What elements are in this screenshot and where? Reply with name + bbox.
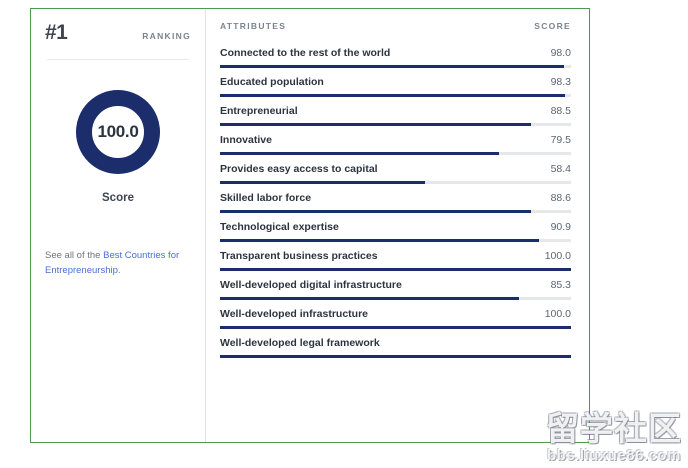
attribute-row-header: Connected to the rest of the world98.0 — [220, 47, 571, 59]
attribute-row-header: Innovative79.5 — [220, 134, 571, 146]
attribute-bar-track — [220, 355, 571, 358]
attribute-bar-fill — [220, 181, 425, 184]
attributes-panel: ATTRIBUTES SCORE Connected to the rest o… — [206, 9, 589, 442]
attribute-score: 98.3 — [551, 76, 571, 88]
attribute-bar-track — [220, 65, 571, 68]
score-caption: Score — [45, 192, 191, 204]
attribute-bar-track — [220, 94, 571, 97]
attribute-score: 100.0 — [545, 250, 571, 262]
attribute-row: Well-developed infrastructure100.0 — [220, 308, 571, 337]
attribute-name: Transparent business practices — [220, 250, 378, 262]
ranking-header: #1 RANKING — [45, 21, 191, 59]
attributes-list: Connected to the rest of the world98.0Ed… — [220, 47, 571, 366]
attribute-bar-track — [220, 268, 571, 271]
attribute-name: Technological expertise — [220, 221, 339, 233]
score-donut-wrapper: 100.0 — [45, 86, 191, 178]
attributes-header: ATTRIBUTES SCORE — [220, 21, 571, 47]
attribute-row: Technological expertise90.9 — [220, 221, 571, 250]
attribute-score: 88.6 — [551, 192, 571, 204]
attribute-name: Well-developed legal framework — [220, 337, 380, 349]
attribute-bar-track — [220, 326, 571, 329]
attribute-bar-track — [220, 181, 571, 184]
score-donut-value: 100.0 — [72, 86, 164, 178]
attribute-score: 98.0 — [551, 47, 571, 59]
attribute-bar-fill — [220, 355, 571, 358]
attribute-bar-fill — [220, 268, 571, 271]
attribute-bar-track — [220, 152, 571, 155]
attribute-bar-track — [220, 239, 571, 242]
attribute-score: 79.5 — [551, 134, 571, 146]
score-column-label: SCORE — [534, 21, 571, 31]
attribute-row: Well-developed digital infrastructure85.… — [220, 279, 571, 308]
attribute-bar-track — [220, 123, 571, 126]
attribute-bar-fill — [220, 123, 531, 126]
attribute-name: Innovative — [220, 134, 272, 146]
attribute-score: 100.0 — [545, 308, 571, 320]
attribute-bar-fill — [220, 297, 519, 300]
attribute-row-header: Entrepreneurial88.5 — [220, 105, 571, 117]
attribute-row: Entrepreneurial88.5 — [220, 105, 571, 134]
attribute-bar-fill — [220, 152, 499, 155]
attribute-name: Skilled labor force — [220, 192, 311, 204]
attribute-row-header: Technological expertise90.9 — [220, 221, 571, 233]
attribute-row: Provides easy access to capital58.4 — [220, 163, 571, 192]
attribute-name: Entrepreneurial — [220, 105, 298, 117]
attribute-bar-fill — [220, 326, 571, 329]
attribute-name: Connected to the rest of the world — [220, 47, 390, 59]
ranking-label: RANKING — [142, 31, 191, 41]
rank-number: #1 — [45, 21, 67, 45]
attribute-row: Connected to the rest of the world98.0 — [220, 47, 571, 76]
attribute-row-header: Skilled labor force88.6 — [220, 192, 571, 204]
attributes-column-label: ATTRIBUTES — [220, 21, 286, 31]
attribute-score: 85.3 — [551, 279, 571, 291]
attribute-row-header: Well-developed infrastructure100.0 — [220, 308, 571, 320]
attribute-row-header: Educated population98.3 — [220, 76, 571, 88]
attribute-name: Provides easy access to capital — [220, 163, 378, 175]
attribute-row-header: Provides easy access to capital58.4 — [220, 163, 571, 175]
attribute-row: Well-developed legal framework — [220, 337, 571, 366]
attribute-bar-track — [220, 210, 571, 213]
attribute-bar-track — [220, 297, 571, 300]
see-all-prefix: See all of the — [45, 250, 103, 261]
attribute-score: 90.9 — [551, 221, 571, 233]
see-all-text: See all of the Best Countries for Entrep… — [45, 249, 193, 278]
attribute-score: 88.5 — [551, 105, 571, 117]
attribute-row: Innovative79.5 — [220, 134, 571, 163]
attribute-bar-fill — [220, 65, 564, 68]
attribute-score: 58.4 — [551, 163, 571, 175]
country-score-card: #1 RANKING 100.0 Score See all of the Be… — [30, 8, 590, 443]
ranking-divider — [47, 59, 189, 60]
attribute-row-header: Well-developed digital infrastructure85.… — [220, 279, 571, 291]
attribute-row: Educated population98.3 — [220, 76, 571, 105]
attribute-row: Skilled labor force88.6 — [220, 192, 571, 221]
see-all-suffix: . — [118, 265, 121, 276]
attribute-bar-fill — [220, 210, 531, 213]
attribute-bar-fill — [220, 94, 565, 97]
attribute-name: Well-developed digital infrastructure — [220, 279, 402, 291]
ranking-panel: #1 RANKING 100.0 Score See all of the Be… — [31, 9, 206, 442]
attribute-row-header: Well-developed legal framework — [220, 337, 571, 349]
watermark-url-text: bbs.liuxue86.com — [546, 447, 682, 464]
attribute-row-header: Transparent business practices100.0 — [220, 250, 571, 262]
score-donut-chart: 100.0 — [72, 86, 164, 178]
attribute-name: Educated population — [220, 76, 324, 88]
attribute-bar-fill — [220, 239, 539, 242]
attribute-name: Well-developed infrastructure — [220, 308, 368, 320]
attribute-row: Transparent business practices100.0 — [220, 250, 571, 279]
